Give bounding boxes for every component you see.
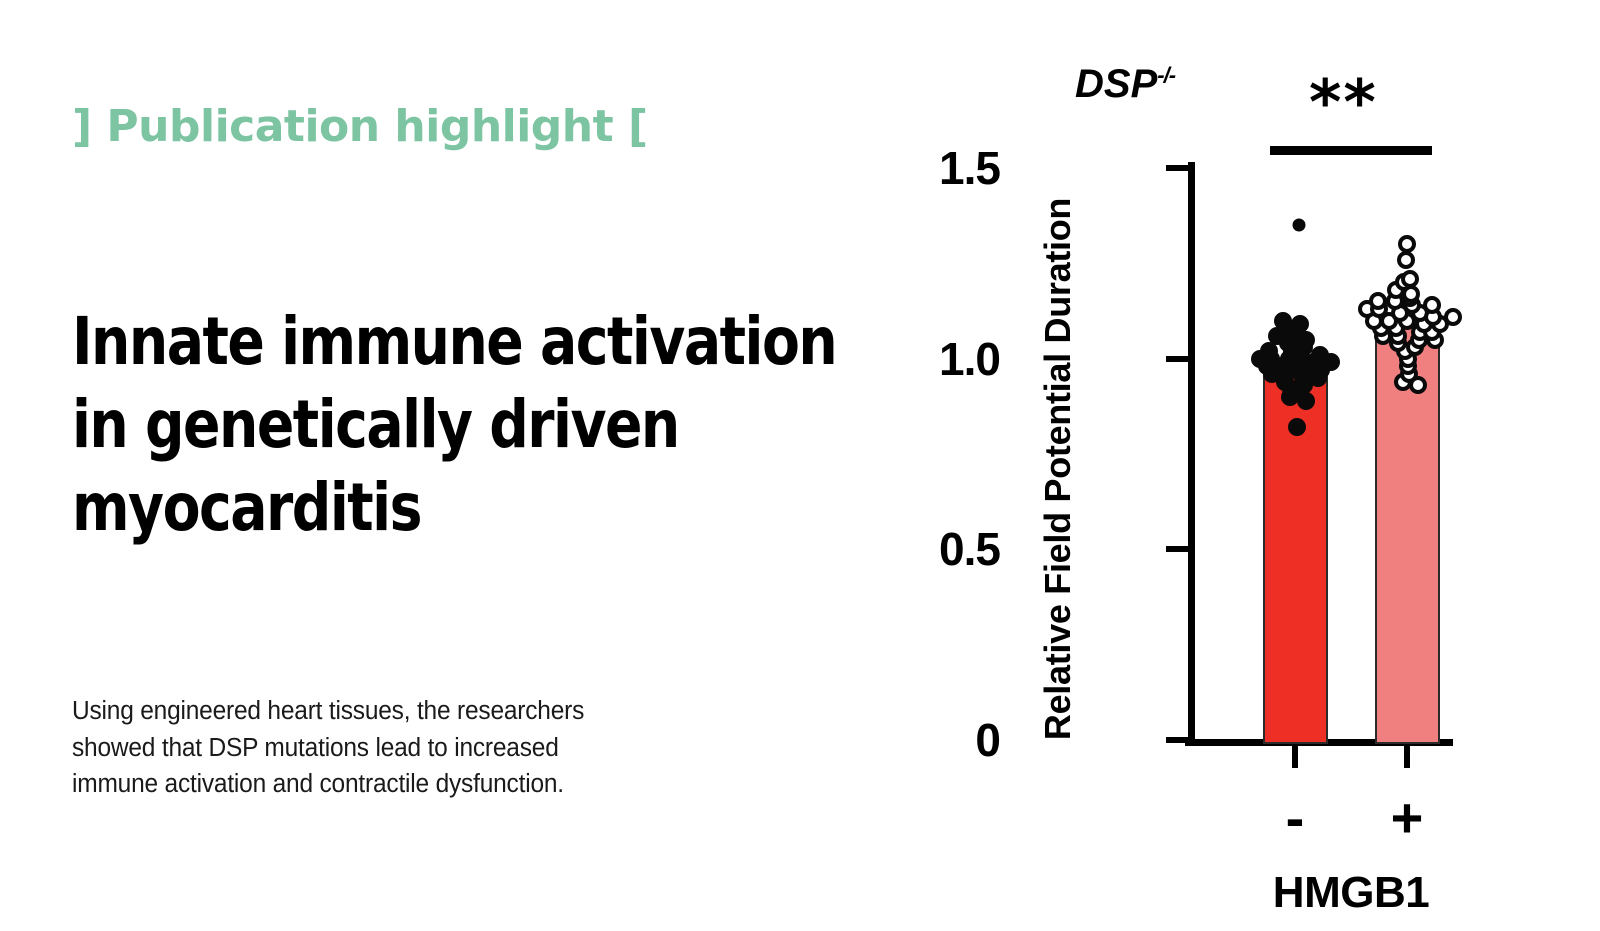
data-point <box>1293 219 1306 232</box>
data-point <box>1274 312 1292 330</box>
bar-chart: Relative Field Potential Duration 00.51.… <box>1000 30 1520 900</box>
y-axis-tick <box>1166 165 1190 171</box>
summary-paragraph: Using engineered heart tissues, the rese… <box>72 693 802 803</box>
y-axis-tick <box>1166 356 1190 362</box>
data-point <box>1401 270 1419 288</box>
x-axis-category-label: + <box>1347 790 1467 846</box>
y-axis-tick-label: 0.5 <box>840 522 1000 576</box>
x-axis-tick <box>1404 746 1410 768</box>
y-axis-tick-label: 0 <box>840 713 1000 767</box>
data-point <box>1260 342 1278 360</box>
data-point <box>1369 292 1387 310</box>
publication-highlight-slide: ] Publication highlight [ Innate immune … <box>0 0 1600 931</box>
summary-line: showed that DSP mutations lead to increa… <box>72 730 802 767</box>
summary-line: Using engineered heart tissues, the rese… <box>72 693 802 730</box>
plot-area: 00.51.01.5-+ <box>1000 30 1520 900</box>
summary-line: immune activation and contractile dysfun… <box>72 766 802 803</box>
text-column: ] Publication highlight [ Innate immune … <box>68 0 968 931</box>
data-point <box>1423 296 1441 314</box>
y-axis-tick-label: 1.5 <box>840 141 1000 195</box>
x-axis-tick <box>1292 746 1298 768</box>
genotype-superscript: -/- <box>1157 63 1175 88</box>
significance-asterisks: ** <box>1309 72 1378 134</box>
data-point <box>1288 418 1306 436</box>
page-title: Innate immune activation in genetically … <box>72 300 890 549</box>
x-axis-title: HMGB1 <box>1151 868 1551 918</box>
data-point <box>1398 235 1416 253</box>
data-point <box>1311 346 1329 364</box>
y-axis-tick <box>1166 737 1190 743</box>
data-point <box>1444 308 1462 326</box>
x-axis-category-label: - <box>1235 790 1355 846</box>
y-axis-tick-label: 1.0 <box>840 332 1000 386</box>
data-point <box>1291 315 1309 333</box>
eyebrow-label: ] Publication highlight [ <box>72 101 648 152</box>
y-axis-tick <box>1166 546 1190 552</box>
significance-bracket <box>1270 146 1432 155</box>
y-axis-line <box>1188 162 1195 746</box>
genotype-title: DSP-/- <box>1075 62 1175 107</box>
genotype-base: DSP <box>1075 62 1157 106</box>
